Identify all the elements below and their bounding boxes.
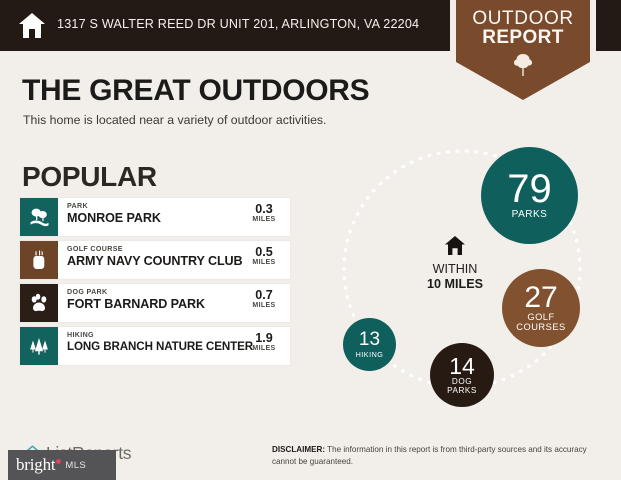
list-item-text: DOG PARK FORT BARNARD PARK [58,284,246,322]
mls-suffix: MLS [65,460,86,471]
mls-brand: bright [16,455,55,475]
distance-value: 0.5 [246,246,282,259]
list-item[interactable]: HIKING LONG BRANCH NATURE CENTER 1.9 MIL… [20,327,290,365]
badge-line-outdoor: OUTDOOR [456,9,590,28]
bubble-hiking-value: 13 [359,331,380,350]
badge-gap-right [590,0,596,51]
bubble-parks-label: PARKS [512,210,548,221]
distance-value: 0.3 [246,203,282,216]
distance-value: 1.9 [246,332,282,345]
list-item-text: HIKING LONG BRANCH NATURE CENTER [58,327,246,365]
list-item-text: PARK MONROE PARK [58,198,246,236]
bright-mls-watermark: bright MLS [8,450,116,480]
bubble-dog-value: 14 [449,355,475,378]
bubble-parks-value: 79 [507,170,552,209]
tree-icon [510,52,536,78]
list-item[interactable]: GOLF COURSE ARMY NAVY COUNTRY CLUB 0.5 M… [20,241,290,279]
bubble-golf-courses: 27 GOLF COURSES [502,269,580,347]
list-item-category: DOG PARK [67,288,246,297]
home-icon [18,12,46,39]
outdoor-report-page: 1317 S WALTER REED DR UNIT 201, ARLINGTO… [0,0,621,480]
bubble-dog-label-line2: PARKS [447,387,477,396]
list-item[interactable]: DOG PARK FORT BARNARD PARK 0.7 MILES [20,284,290,322]
bubble-parks: 79 PARKS [481,147,578,244]
distance-unit: MILES [246,302,282,309]
page-title: THE GREAT OUTDOORS [22,74,369,108]
list-item-distance: 0.3 MILES [246,198,290,236]
list-item-text: GOLF COURSE ARMY NAVY COUNTRY CLUB [58,241,246,279]
amenities-bubble-chart: 79 PARKS 27 GOLF COURSES 14 DOG PARKS 13… [320,132,610,422]
distance-unit: MILES [246,216,282,223]
list-item[interactable]: PARK MONROE PARK 0.3 MILES [20,198,290,236]
badge-gap-left [450,0,456,51]
bubble-dog-parks: 14 DOG PARKS [430,343,494,407]
list-item-name: MONROE PARK [67,211,246,225]
center-label-within: WITHIN [405,262,505,277]
center-label-miles: 10 MILES [405,277,505,292]
disclaimer: DISCLAIMER: The information in this repo… [272,444,602,468]
home-icon [444,235,466,256]
list-item-distance: 0.7 MILES [246,284,290,322]
park-tree-icon [20,198,58,236]
golf-bag-icon [20,241,58,279]
bubble-golf-label-line2: COURSES [516,323,565,333]
list-item-distance: 0.5 MILES [246,241,290,279]
list-item-name: ARMY NAVY COUNTRY CLUB [67,254,246,268]
distance-unit: MILES [246,259,282,266]
disclaimer-label: DISCLAIMER: [272,445,325,454]
outdoor-report-badge: OUTDOOR REPORT [456,0,590,100]
list-item-category: HIKING [67,331,246,340]
list-item-category: GOLF COURSE [67,245,246,254]
list-item-name: FORT BARNARD PARK [67,297,246,311]
popular-heading: POPULAR [22,161,157,193]
pine-trees-icon [20,327,58,365]
bubble-golf-value: 27 [524,283,557,312]
distance-unit: MILES [246,345,282,352]
chart-center-label: WITHIN 10 MILES [405,235,505,292]
distance-value: 0.7 [246,289,282,302]
bubble-hiking-label: HIKING [356,351,384,359]
badge-line-report: REPORT [456,28,590,47]
page-subtitle: This home is located near a variety of o… [23,113,326,127]
mls-dot-icon [56,459,61,464]
popular-list: PARK MONROE PARK 0.3 MILES GOLF COURSE A… [20,198,290,370]
list-item-category: PARK [67,202,246,211]
list-item-name: LONG BRANCH NATURE CENTER [67,340,246,353]
list-item-distance: 1.9 MILES [246,327,290,365]
bubble-hiking: 13 HIKING [343,318,396,371]
property-address: 1317 S WALTER REED DR UNIT 201, ARLINGTO… [57,17,419,31]
paw-print-icon [20,284,58,322]
